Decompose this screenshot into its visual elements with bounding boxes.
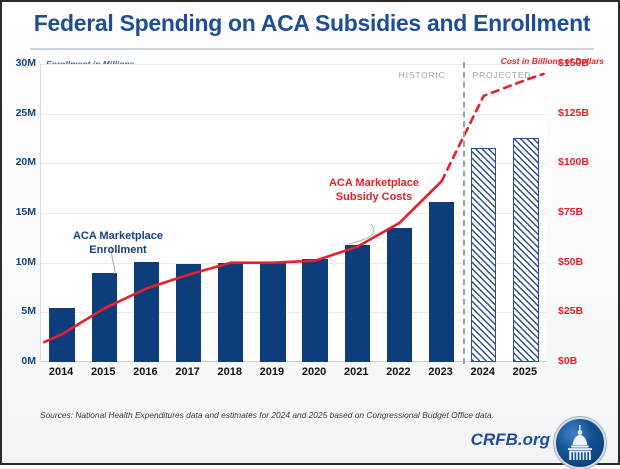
x-label-2022: 2022 xyxy=(377,366,419,378)
x-label-2014: 2014 xyxy=(40,366,82,378)
chart-title-text: Federal Spending on ACA Subsidies and En… xyxy=(34,10,590,36)
left-tick-0M: 0M xyxy=(4,355,36,367)
annotation-enrollment-line1: ACA Marketplace xyxy=(53,229,183,243)
x-label-2018: 2018 xyxy=(209,366,251,378)
annotation-enrollment-line2: Enrollment xyxy=(53,243,183,257)
right-tick-$75B: $75B xyxy=(558,206,606,218)
projected-label: PROJECTED xyxy=(473,70,532,80)
left-tick-10M: 10M xyxy=(4,256,36,268)
x-label-2025: 2025 xyxy=(504,366,546,378)
annotation-subsidy-line2: Subsidy Costs xyxy=(309,190,439,204)
x-label-2015: 2015 xyxy=(82,366,124,378)
subsidy-line-projected xyxy=(442,74,544,181)
x-label-2021: 2021 xyxy=(335,366,377,378)
right-tick-$25B: $25B xyxy=(558,305,606,317)
right-tick-$150B: $150B xyxy=(558,57,606,69)
historic-label: HISTORIC xyxy=(399,70,446,80)
left-tick-25M: 25M xyxy=(4,107,36,119)
right-tick-$100B: $100B xyxy=(558,156,606,168)
left-tick-30M: 30M xyxy=(4,57,36,69)
x-label-2023: 2023 xyxy=(420,366,462,378)
source-note: Sources: National Health Expenditures da… xyxy=(40,410,494,420)
x-label-2017: 2017 xyxy=(167,366,209,378)
plot-area: HISTORIC PROJECTED ACA Marketplace Enrol… xyxy=(40,64,546,362)
crfb-capitol-logo-icon xyxy=(554,417,606,469)
annotation-subsidy-line1: ACA Marketplace xyxy=(309,176,439,190)
chart-title: Federal Spending on ACA Subsidies and En… xyxy=(2,10,620,37)
title-divider xyxy=(30,48,594,50)
right-tick-$50B: $50B xyxy=(558,256,606,268)
x-label-2020: 2020 xyxy=(293,366,335,378)
x-label-2019: 2019 xyxy=(251,366,293,378)
left-tick-15M: 15M xyxy=(4,206,36,218)
subsidy-line-historic xyxy=(44,181,441,342)
x-label-2024: 2024 xyxy=(462,366,504,378)
x-label-2016: 2016 xyxy=(124,366,166,378)
annotation-subsidy: ACA Marketplace Subsidy Costs xyxy=(309,176,439,204)
annotation-enrollment: ACA Marketplace Enrollment xyxy=(53,229,183,257)
brand-text: CRFB.org xyxy=(471,430,550,450)
left-tick-5M: 5M xyxy=(4,305,36,317)
x-axis-labels: 2014201520162017201820192020202120222023… xyxy=(40,366,546,386)
right-tick-$0B: $0B xyxy=(558,355,606,367)
right-tick-$125B: $125B xyxy=(558,107,606,119)
chart-figure: Federal Spending on ACA Subsidies and En… xyxy=(0,0,620,465)
subsidy-cost-line xyxy=(41,64,547,362)
capitol-dome-glyph xyxy=(556,419,604,467)
historic-projected-divider xyxy=(463,62,465,364)
left-tick-20M: 20M xyxy=(4,156,36,168)
